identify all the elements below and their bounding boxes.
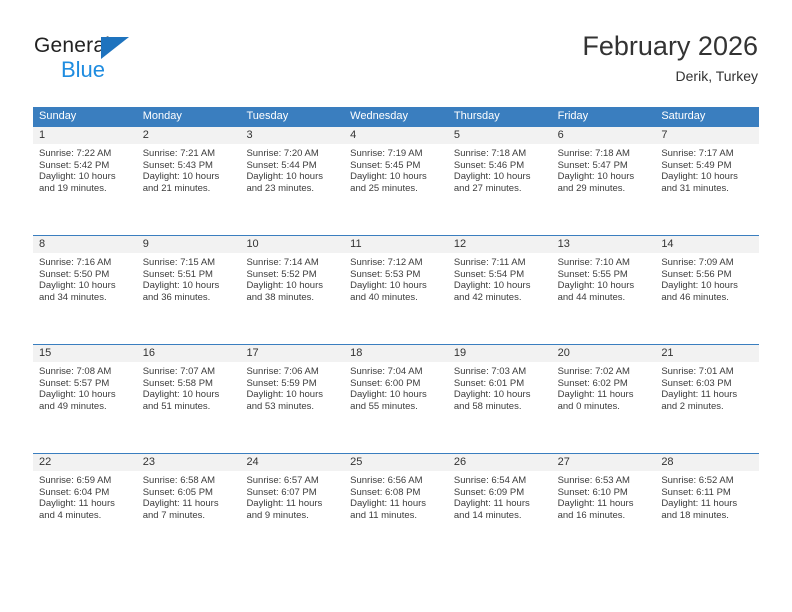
calendar-week-row: 15 Sunrise: 7:08 AM Sunset: 5:57 PM Dayl…: [33, 344, 759, 453]
daylight-text: Daylight: 10 hours and 23 minutes.: [246, 171, 338, 194]
day-details: Sunrise: 7:02 AM Sunset: 6:02 PM Dayligh…: [552, 362, 656, 412]
day-number: 12: [448, 236, 552, 253]
sunrise-text: Sunrise: 7:19 AM: [350, 148, 442, 160]
calendar-page: General Blue February 2026 Derik, Turkey…: [0, 0, 792, 612]
page-title: February 2026: [582, 30, 758, 62]
sunset-text: Sunset: 5:52 PM: [246, 269, 338, 281]
day-number: 2: [137, 127, 241, 144]
day-number: 22: [33, 454, 137, 471]
page-header: General Blue February 2026 Derik, Turkey: [34, 30, 758, 92]
day-details: Sunrise: 7:17 AM Sunset: 5:49 PM Dayligh…: [655, 144, 759, 194]
sunset-text: Sunset: 6:00 PM: [350, 378, 442, 390]
day-number: 11: [344, 236, 448, 253]
daylight-text: Daylight: 11 hours and 11 minutes.: [350, 498, 442, 521]
daylight-text: Daylight: 10 hours and 49 minutes.: [39, 389, 131, 412]
day-number: 13: [552, 236, 656, 253]
day-details: Sunrise: 6:58 AM Sunset: 6:05 PM Dayligh…: [137, 471, 241, 521]
day-details: Sunrise: 7:04 AM Sunset: 6:00 PM Dayligh…: [344, 362, 448, 412]
sunrise-text: Sunrise: 7:10 AM: [558, 257, 650, 269]
day-details: Sunrise: 7:18 AM Sunset: 5:47 PM Dayligh…: [552, 144, 656, 194]
weekday-header-monday: Monday: [137, 107, 241, 126]
day-details: Sunrise: 6:54 AM Sunset: 6:09 PM Dayligh…: [448, 471, 552, 521]
calendar-day-cell[interactable]: 12 Sunrise: 7:11 AM Sunset: 5:54 PM Dayl…: [448, 236, 552, 344]
day-number: 19: [448, 345, 552, 362]
calendar-day-cell[interactable]: 23 Sunrise: 6:58 AM Sunset: 6:05 PM Dayl…: [137, 454, 241, 562]
daylight-text: Daylight: 11 hours and 7 minutes.: [143, 498, 235, 521]
day-number: 20: [552, 345, 656, 362]
sunset-text: Sunset: 5:55 PM: [558, 269, 650, 281]
sunrise-text: Sunrise: 7:18 AM: [558, 148, 650, 160]
title-block: February 2026 Derik, Turkey: [582, 30, 758, 86]
calendar-day-cell[interactable]: 10 Sunrise: 7:14 AM Sunset: 5:52 PM Dayl…: [240, 236, 344, 344]
day-number: 9: [137, 236, 241, 253]
sunrise-text: Sunrise: 7:08 AM: [39, 366, 131, 378]
sunrise-text: Sunrise: 6:59 AM: [39, 475, 131, 487]
day-details: Sunrise: 7:07 AM Sunset: 5:58 PM Dayligh…: [137, 362, 241, 412]
day-number: 3: [240, 127, 344, 144]
sunrise-text: Sunrise: 7:03 AM: [454, 366, 546, 378]
daylight-text: Daylight: 10 hours and 51 minutes.: [143, 389, 235, 412]
day-number: 16: [137, 345, 241, 362]
day-number: 5: [448, 127, 552, 144]
weekday-header-saturday: Saturday: [655, 107, 759, 126]
weekday-header-friday: Friday: [552, 107, 656, 126]
calendar-week-row: 8 Sunrise: 7:16 AM Sunset: 5:50 PM Dayli…: [33, 235, 759, 344]
sunrise-text: Sunrise: 7:01 AM: [661, 366, 753, 378]
sunset-text: Sunset: 5:43 PM: [143, 160, 235, 172]
day-number: 21: [655, 345, 759, 362]
sunrise-text: Sunrise: 7:18 AM: [454, 148, 546, 160]
sunset-text: Sunset: 6:08 PM: [350, 487, 442, 499]
sunrise-text: Sunrise: 6:57 AM: [246, 475, 338, 487]
calendar-day-cell[interactable]: 4 Sunrise: 7:19 AM Sunset: 5:45 PM Dayli…: [344, 127, 448, 235]
day-number: 23: [137, 454, 241, 471]
daylight-text: Daylight: 10 hours and 42 minutes.: [454, 280, 546, 303]
daylight-text: Daylight: 10 hours and 29 minutes.: [558, 171, 650, 194]
daylight-text: Daylight: 10 hours and 38 minutes.: [246, 280, 338, 303]
calendar-week-row: 22 Sunrise: 6:59 AM Sunset: 6:04 PM Dayl…: [33, 453, 759, 562]
sunset-text: Sunset: 6:03 PM: [661, 378, 753, 390]
day-details: Sunrise: 7:18 AM Sunset: 5:46 PM Dayligh…: [448, 144, 552, 194]
daylight-text: Daylight: 10 hours and 44 minutes.: [558, 280, 650, 303]
day-details: Sunrise: 7:08 AM Sunset: 5:57 PM Dayligh…: [33, 362, 137, 412]
calendar-day-cell[interactable]: 16 Sunrise: 7:07 AM Sunset: 5:58 PM Dayl…: [137, 345, 241, 453]
sunset-text: Sunset: 5:42 PM: [39, 160, 131, 172]
calendar-day-cell[interactable]: 28 Sunrise: 6:52 AM Sunset: 6:11 PM Dayl…: [655, 454, 759, 562]
day-number: 24: [240, 454, 344, 471]
calendar-day-cell[interactable]: 7 Sunrise: 7:17 AM Sunset: 5:49 PM Dayli…: [655, 127, 759, 235]
sunrise-text: Sunrise: 7:12 AM: [350, 257, 442, 269]
sunset-text: Sunset: 6:11 PM: [661, 487, 753, 499]
day-details: Sunrise: 6:56 AM Sunset: 6:08 PM Dayligh…: [344, 471, 448, 521]
sunrise-text: Sunrise: 7:09 AM: [661, 257, 753, 269]
day-number: 10: [240, 236, 344, 253]
day-number: 6: [552, 127, 656, 144]
daylight-text: Daylight: 11 hours and 16 minutes.: [558, 498, 650, 521]
calendar-week-row: 1 Sunrise: 7:22 AM Sunset: 5:42 PM Dayli…: [33, 126, 759, 235]
calendar-day-cell[interactable]: 14 Sunrise: 7:09 AM Sunset: 5:56 PM Dayl…: [655, 236, 759, 344]
daylight-text: Daylight: 11 hours and 0 minutes.: [558, 389, 650, 412]
day-details: Sunrise: 7:20 AM Sunset: 5:44 PM Dayligh…: [240, 144, 344, 194]
daylight-text: Daylight: 10 hours and 34 minutes.: [39, 280, 131, 303]
sunrise-text: Sunrise: 7:02 AM: [558, 366, 650, 378]
daylight-text: Daylight: 10 hours and 21 minutes.: [143, 171, 235, 194]
sunset-text: Sunset: 5:53 PM: [350, 269, 442, 281]
calendar-day-cell[interactable]: 18 Sunrise: 7:04 AM Sunset: 6:00 PM Dayl…: [344, 345, 448, 453]
day-details: Sunrise: 7:19 AM Sunset: 5:45 PM Dayligh…: [344, 144, 448, 194]
calendar-day-cell[interactable]: 13 Sunrise: 7:10 AM Sunset: 5:55 PM Dayl…: [552, 236, 656, 344]
sunset-text: Sunset: 6:09 PM: [454, 487, 546, 499]
sunset-text: Sunset: 6:05 PM: [143, 487, 235, 499]
sunrise-text: Sunrise: 7:22 AM: [39, 148, 131, 160]
sunset-text: Sunset: 5:54 PM: [454, 269, 546, 281]
day-details: Sunrise: 7:06 AM Sunset: 5:59 PM Dayligh…: [240, 362, 344, 412]
brand-logo[interactable]: General Blue: [34, 34, 234, 90]
day-number: 7: [655, 127, 759, 144]
sunrise-text: Sunrise: 6:53 AM: [558, 475, 650, 487]
calendar-day-cell[interactable]: 26 Sunrise: 6:54 AM Sunset: 6:09 PM Dayl…: [448, 454, 552, 562]
daylight-text: Daylight: 10 hours and 40 minutes.: [350, 280, 442, 303]
calendar-day-cell[interactable]: 1 Sunrise: 7:22 AM Sunset: 5:42 PM Dayli…: [33, 127, 137, 235]
daylight-text: Daylight: 10 hours and 25 minutes.: [350, 171, 442, 194]
sunrise-text: Sunrise: 7:11 AM: [454, 257, 546, 269]
daylight-text: Daylight: 11 hours and 2 minutes.: [661, 389, 753, 412]
calendar-day-cell[interactable]: 11 Sunrise: 7:12 AM Sunset: 5:53 PM Dayl…: [344, 236, 448, 344]
sunset-text: Sunset: 5:58 PM: [143, 378, 235, 390]
brand-name-blue: Blue: [61, 58, 105, 82]
sunrise-text: Sunrise: 7:07 AM: [143, 366, 235, 378]
calendar-day-cell[interactable]: 27 Sunrise: 6:53 AM Sunset: 6:10 PM Dayl…: [552, 454, 656, 562]
calendar-day-cell[interactable]: 6 Sunrise: 7:18 AM Sunset: 5:47 PM Dayli…: [552, 127, 656, 235]
day-number: 1: [33, 127, 137, 144]
daylight-text: Daylight: 10 hours and 31 minutes.: [661, 171, 753, 194]
sunrise-text: Sunrise: 7:21 AM: [143, 148, 235, 160]
sunrise-text: Sunrise: 7:20 AM: [246, 148, 338, 160]
day-details: Sunrise: 7:12 AM Sunset: 5:53 PM Dayligh…: [344, 253, 448, 303]
sunset-text: Sunset: 6:04 PM: [39, 487, 131, 499]
day-details: Sunrise: 7:22 AM Sunset: 5:42 PM Dayligh…: [33, 144, 137, 194]
day-details: Sunrise: 7:10 AM Sunset: 5:55 PM Dayligh…: [552, 253, 656, 303]
calendar-day-cell[interactable]: 21 Sunrise: 7:01 AM Sunset: 6:03 PM Dayl…: [655, 345, 759, 453]
day-details: Sunrise: 7:14 AM Sunset: 5:52 PM Dayligh…: [240, 253, 344, 303]
sunset-text: Sunset: 6:01 PM: [454, 378, 546, 390]
sunset-text: Sunset: 6:02 PM: [558, 378, 650, 390]
sunrise-text: Sunrise: 7:06 AM: [246, 366, 338, 378]
day-number: 14: [655, 236, 759, 253]
day-details: Sunrise: 7:01 AM Sunset: 6:03 PM Dayligh…: [655, 362, 759, 412]
daylight-text: Daylight: 10 hours and 58 minutes.: [454, 389, 546, 412]
weekday-header-sunday: Sunday: [33, 107, 137, 126]
day-number: 18: [344, 345, 448, 362]
day-details: Sunrise: 7:11 AM Sunset: 5:54 PM Dayligh…: [448, 253, 552, 303]
weekday-header-thursday: Thursday: [448, 107, 552, 126]
daylight-text: Daylight: 10 hours and 53 minutes.: [246, 389, 338, 412]
day-number: 28: [655, 454, 759, 471]
weekday-header-row: Sunday Monday Tuesday Wednesday Thursday…: [33, 107, 759, 126]
calendar-day-cell[interactable]: 15 Sunrise: 7:08 AM Sunset: 5:57 PM Dayl…: [33, 345, 137, 453]
day-details: Sunrise: 6:53 AM Sunset: 6:10 PM Dayligh…: [552, 471, 656, 521]
calendar-grid: Sunday Monday Tuesday Wednesday Thursday…: [33, 107, 759, 562]
daylight-text: Daylight: 10 hours and 36 minutes.: [143, 280, 235, 303]
day-number: 25: [344, 454, 448, 471]
sunset-text: Sunset: 5:57 PM: [39, 378, 131, 390]
calendar-day-cell[interactable]: 20 Sunrise: 7:02 AM Sunset: 6:02 PM Dayl…: [552, 345, 656, 453]
day-details: Sunrise: 7:09 AM Sunset: 5:56 PM Dayligh…: [655, 253, 759, 303]
sunrise-text: Sunrise: 7:15 AM: [143, 257, 235, 269]
location-subtitle: Derik, Turkey: [582, 66, 758, 86]
sunset-text: Sunset: 5:56 PM: [661, 269, 753, 281]
sunset-text: Sunset: 5:44 PM: [246, 160, 338, 172]
day-number: 17: [240, 345, 344, 362]
calendar-day-cell[interactable]: 19 Sunrise: 7:03 AM Sunset: 6:01 PM Dayl…: [448, 345, 552, 453]
day-details: Sunrise: 7:15 AM Sunset: 5:51 PM Dayligh…: [137, 253, 241, 303]
daylight-text: Daylight: 10 hours and 55 minutes.: [350, 389, 442, 412]
sunrise-text: Sunrise: 6:52 AM: [661, 475, 753, 487]
calendar-day-cell[interactable]: 9 Sunrise: 7:15 AM Sunset: 5:51 PM Dayli…: [137, 236, 241, 344]
day-details: Sunrise: 7:21 AM Sunset: 5:43 PM Dayligh…: [137, 144, 241, 194]
day-details: Sunrise: 6:52 AM Sunset: 6:11 PM Dayligh…: [655, 471, 759, 521]
calendar-day-cell[interactable]: 25 Sunrise: 6:56 AM Sunset: 6:08 PM Dayl…: [344, 454, 448, 562]
sunrise-text: Sunrise: 7:14 AM: [246, 257, 338, 269]
daylight-text: Daylight: 10 hours and 27 minutes.: [454, 171, 546, 194]
day-number: 4: [344, 127, 448, 144]
daylight-text: Daylight: 10 hours and 19 minutes.: [39, 171, 131, 194]
daylight-text: Daylight: 10 hours and 46 minutes.: [661, 280, 753, 303]
sunrise-text: Sunrise: 6:56 AM: [350, 475, 442, 487]
sunrise-text: Sunrise: 7:16 AM: [39, 257, 131, 269]
day-number: 15: [33, 345, 137, 362]
sunset-text: Sunset: 6:07 PM: [246, 487, 338, 499]
day-number: 27: [552, 454, 656, 471]
blue-triangle-icon: [101, 37, 129, 59]
day-details: Sunrise: 7:03 AM Sunset: 6:01 PM Dayligh…: [448, 362, 552, 412]
calendar-day-cell[interactable]: 17 Sunrise: 7:06 AM Sunset: 5:59 PM Dayl…: [240, 345, 344, 453]
day-number: 26: [448, 454, 552, 471]
weekday-header-wednesday: Wednesday: [344, 107, 448, 126]
brand-name-general: General: [34, 34, 110, 58]
calendar-day-cell[interactable]: 2 Sunrise: 7:21 AM Sunset: 5:43 PM Dayli…: [137, 127, 241, 235]
daylight-text: Daylight: 11 hours and 4 minutes.: [39, 498, 131, 521]
calendar-day-cell[interactable]: 24 Sunrise: 6:57 AM Sunset: 6:07 PM Dayl…: [240, 454, 344, 562]
sunset-text: Sunset: 5:59 PM: [246, 378, 338, 390]
weekday-header-tuesday: Tuesday: [240, 107, 344, 126]
calendar-day-cell[interactable]: 3 Sunrise: 7:20 AM Sunset: 5:44 PM Dayli…: [240, 127, 344, 235]
sunrise-text: Sunrise: 6:54 AM: [454, 475, 546, 487]
day-details: Sunrise: 6:57 AM Sunset: 6:07 PM Dayligh…: [240, 471, 344, 521]
sunset-text: Sunset: 5:45 PM: [350, 160, 442, 172]
sunset-text: Sunset: 5:46 PM: [454, 160, 546, 172]
sunset-text: Sunset: 5:51 PM: [143, 269, 235, 281]
day-number: 8: [33, 236, 137, 253]
sunrise-text: Sunrise: 6:58 AM: [143, 475, 235, 487]
day-details: Sunrise: 7:16 AM Sunset: 5:50 PM Dayligh…: [33, 253, 137, 303]
calendar-day-cell[interactable]: 22 Sunrise: 6:59 AM Sunset: 6:04 PM Dayl…: [33, 454, 137, 562]
daylight-text: Daylight: 11 hours and 9 minutes.: [246, 498, 338, 521]
calendar-day-cell[interactable]: 5 Sunrise: 7:18 AM Sunset: 5:46 PM Dayli…: [448, 127, 552, 235]
sunset-text: Sunset: 5:50 PM: [39, 269, 131, 281]
sunset-text: Sunset: 5:47 PM: [558, 160, 650, 172]
sunrise-text: Sunrise: 7:04 AM: [350, 366, 442, 378]
day-details: Sunrise: 6:59 AM Sunset: 6:04 PM Dayligh…: [33, 471, 137, 521]
daylight-text: Daylight: 11 hours and 14 minutes.: [454, 498, 546, 521]
sunrise-text: Sunrise: 7:17 AM: [661, 148, 753, 160]
calendar-day-cell[interactable]: 8 Sunrise: 7:16 AM Sunset: 5:50 PM Dayli…: [33, 236, 137, 344]
daylight-text: Daylight: 11 hours and 18 minutes.: [661, 498, 753, 521]
sunset-text: Sunset: 6:10 PM: [558, 487, 650, 499]
sunset-text: Sunset: 5:49 PM: [661, 160, 753, 172]
